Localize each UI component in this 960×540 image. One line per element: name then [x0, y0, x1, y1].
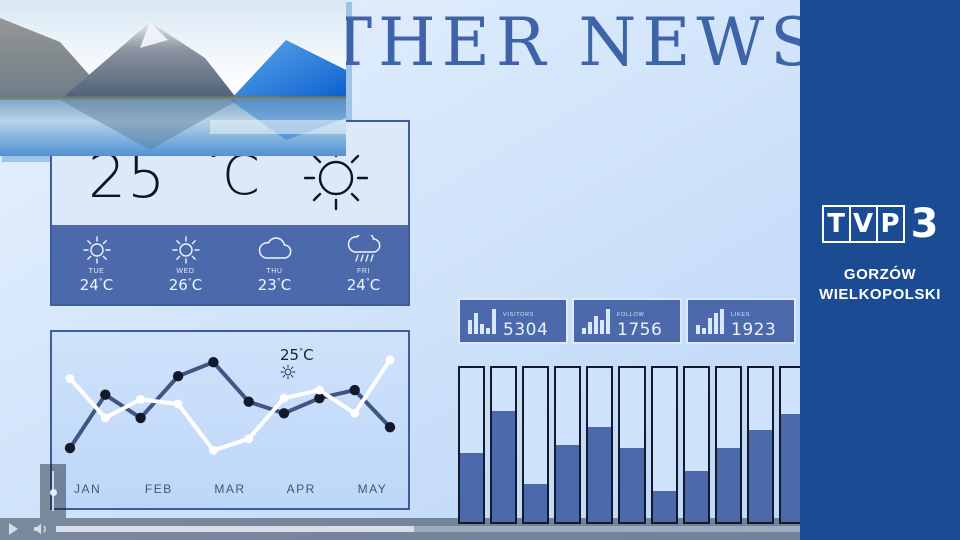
data-point	[386, 356, 395, 365]
gauge-bar	[683, 366, 710, 524]
stat-card-likes[interactable]: LIKES 1923	[686, 298, 796, 344]
data-point	[350, 385, 360, 395]
chart-x-label-mar: MAR	[194, 482, 265, 496]
gauge-fill	[653, 491, 676, 522]
gauge-bar	[715, 366, 742, 524]
data-point	[385, 422, 395, 432]
mini-bar-chart-icon	[468, 308, 496, 334]
forecast-day-label: THU	[266, 268, 282, 275]
data-point	[209, 446, 218, 455]
stat-card-follow[interactable]: FOLLOW 1756	[572, 298, 682, 344]
data-point	[244, 434, 253, 443]
tvp-letter-v: V	[851, 207, 878, 241]
chart-x-label-may: MAY	[337, 482, 408, 496]
chart-x-label-apr: APR	[266, 482, 337, 496]
data-point	[314, 393, 324, 403]
mini-bar	[600, 320, 604, 334]
forecast-day-label: TUE	[89, 268, 105, 275]
mini-bar	[486, 328, 490, 335]
gauge-bar	[458, 366, 485, 524]
data-point	[350, 409, 359, 418]
mini-bar-chart-icon	[696, 308, 724, 334]
data-point	[66, 374, 75, 383]
sun-icon	[280, 364, 320, 380]
mini-bar	[474, 313, 478, 334]
forecast-day-label: FRI	[357, 268, 370, 275]
mini-bar	[480, 324, 484, 334]
stat-label: LIKES	[731, 312, 750, 318]
gauge-fill	[717, 448, 740, 522]
stat-label: FOLLOW	[617, 312, 644, 318]
forecast-item-wed: WED 26°C	[141, 225, 230, 304]
gauge-fill	[524, 484, 547, 523]
brand-panel: T V P 3 GORZÓW WIELKOPOLSKI	[800, 0, 960, 540]
mini-bar	[492, 309, 496, 334]
stat-label: VISITORS	[503, 312, 534, 318]
gauge-bar	[618, 366, 645, 524]
mini-bar	[714, 313, 718, 334]
stat-text: FOLLOW 1756	[617, 303, 662, 339]
mini-bar	[708, 318, 712, 334]
forecast-row: TUE 24°C WED 26°C	[52, 225, 408, 304]
gauge-bar	[651, 366, 678, 524]
data-point	[174, 400, 183, 409]
temperature-line-chart: 25°C JANFEBMARAPRMAY	[50, 330, 410, 510]
gauge-fill	[620, 448, 643, 522]
sun-icon	[171, 235, 201, 265]
brand-city: GORZÓW	[800, 265, 960, 285]
stat-value: 1923	[731, 321, 776, 339]
data-point	[173, 371, 183, 381]
gauge-bar	[554, 366, 581, 524]
forecast-day-label: WED	[176, 268, 194, 275]
data-point	[100, 390, 110, 400]
forecast-temp: 23°C	[258, 276, 292, 294]
data-point	[279, 408, 289, 418]
gauge-bar-chart	[458, 366, 806, 524]
tvp-letter-t: T	[824, 207, 851, 241]
chart-annotation: 25°C	[280, 346, 320, 380]
data-point	[244, 397, 254, 407]
gauge-bar	[522, 366, 549, 524]
forecast-item-fri: FRI 24°C	[319, 225, 408, 304]
forecast-temp: 24°C	[80, 276, 114, 294]
gauge-bar	[586, 366, 613, 524]
tvp-letter-box: T V P	[822, 205, 905, 243]
data-point	[65, 443, 75, 453]
data-point	[101, 414, 110, 423]
mini-bar	[702, 328, 706, 334]
forecast-temp: 24°C	[347, 276, 381, 294]
gauge-fill	[492, 411, 515, 522]
data-point	[136, 395, 145, 404]
stat-text: VISITORS 5304	[503, 303, 548, 339]
mini-bar	[582, 328, 586, 335]
forecast-temp: 26°C	[169, 276, 203, 294]
video-player[interactable]	[0, 0, 354, 164]
gauge-bar	[747, 366, 774, 524]
gauge-fill	[460, 453, 483, 522]
mini-bar	[468, 320, 472, 334]
video-thumbnail	[0, 0, 346, 156]
gauge-fill	[749, 430, 772, 522]
weather-news-screen: WEATHER NEWS MON 25 C	[0, 0, 960, 540]
forecast-item-thu: THU 23°C	[230, 225, 319, 304]
sun-icon	[82, 235, 112, 265]
chart-x-axis-labels: JANFEBMARAPRMAY	[52, 482, 408, 496]
data-point	[208, 357, 218, 367]
forecast-item-tue: TUE 24°C	[52, 225, 141, 304]
brand-region: WIELKOPOLSKI	[800, 285, 960, 305]
mini-bar	[606, 309, 610, 334]
data-point	[135, 413, 145, 423]
stat-text: LIKES 1923	[731, 303, 776, 339]
data-point	[280, 394, 289, 403]
gauge-fill	[556, 445, 579, 522]
mini-bar	[696, 325, 700, 334]
gauge-fill	[685, 471, 708, 522]
mini-bar	[594, 316, 598, 334]
stat-value: 5304	[503, 321, 548, 339]
tvp-logo-row: T V P 3	[822, 205, 939, 243]
mini-bar	[720, 309, 724, 334]
stat-card-visitors[interactable]: VISITORS 5304	[458, 298, 568, 344]
data-point	[315, 386, 324, 395]
rain-cloud-icon	[346, 235, 382, 265]
chart-x-label-feb: FEB	[123, 482, 194, 496]
cloud-icon	[257, 235, 293, 265]
mini-bar-chart-icon	[582, 308, 610, 334]
tvp-letter-p: P	[878, 207, 903, 241]
gauge-bar	[490, 366, 517, 524]
tvp-channel-number: 3	[911, 207, 939, 241]
stat-value: 1756	[617, 321, 662, 339]
tvp3-logo: T V P 3 GORZÓW WIELKOPOLSKI	[800, 205, 960, 305]
gauge-fill	[588, 427, 611, 522]
mini-bar	[588, 322, 592, 334]
